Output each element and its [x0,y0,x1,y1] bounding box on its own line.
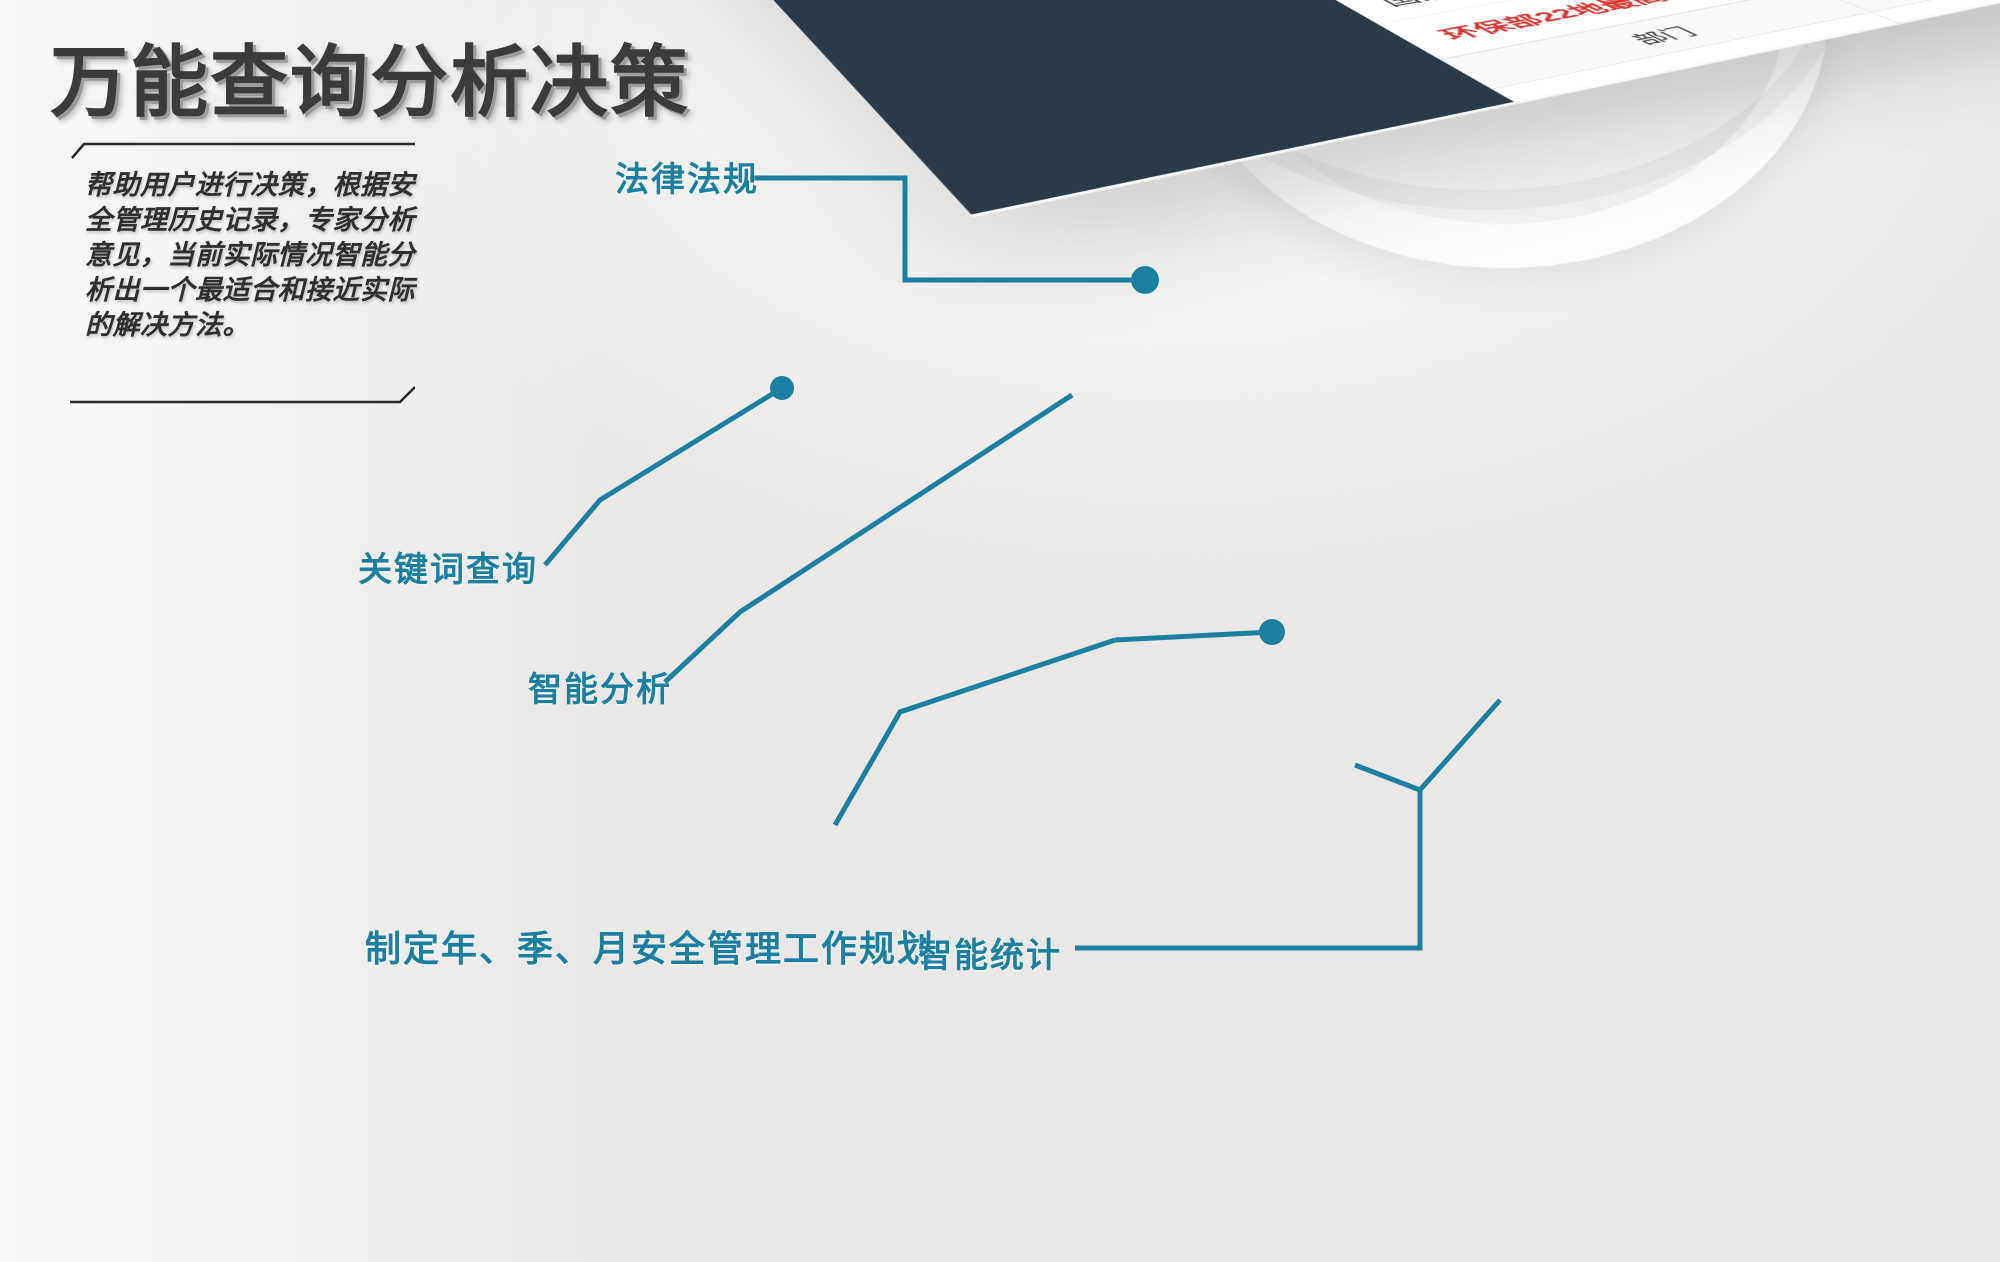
plus-icon[interactable]: + [1711,185,1791,216]
page-title-reflection: 万能查询分析决策 [50,64,870,134]
row-prefix: 国家 [1375,0,1458,9]
cell-dept: + 维修班 [1667,92,2000,218]
cell-training: 18.47 [1996,0,2000,92]
page-description: 帮助用户进行决策，根据安全管理历史记录，专家分析意见，当前实际情况智能分析出一个… [85,168,415,343]
cell-dept: 技术安全组 [1601,62,2000,188]
cell-dept-label: 维修班 [1762,161,1884,200]
